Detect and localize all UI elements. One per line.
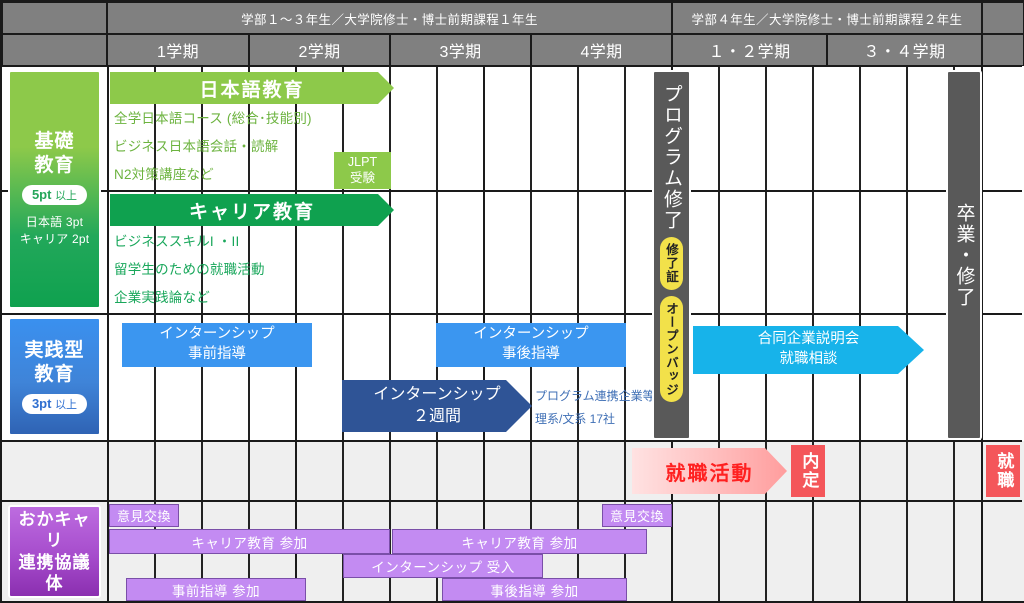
job-offer-box[interactable]: 内定 xyxy=(791,445,825,497)
header-group-1: 学部１～３年生／大学院修士・博士前期課程１年生 xyxy=(107,2,672,34)
section-divider-practical-job xyxy=(2,440,1022,442)
category-consortium-title: おかキャリ 連携協議体 xyxy=(10,509,99,594)
post-guidance-join-bar[interactable]: 事後指導 参加 xyxy=(442,578,627,601)
graduation-column[interactable]: 卒業・修了 xyxy=(946,70,982,440)
joint-company-session-bar[interactable]: 合同企業説明会 就職相談 xyxy=(693,326,924,374)
japanese-education-title-bar[interactable]: 日本語教育 xyxy=(110,72,394,104)
header-semester-5: １・２学期 xyxy=(672,34,827,66)
opinion-exchange-right-bar[interactable]: 意見交換 xyxy=(602,504,672,527)
category-foundation-points: 5pt 以上 xyxy=(22,185,87,205)
career-education-join-bar-2[interactable]: キャリア教育 参加 xyxy=(392,529,647,554)
certificate-badge: 修了証 xyxy=(660,237,683,290)
category-foundation-breakdown: 日本語 3pt キャリア 2pt xyxy=(20,214,90,249)
category-practical-title: 実践型 教育 xyxy=(24,339,84,387)
header-semester-2: 2学期 xyxy=(249,34,390,66)
category-foundation[interactable]: 基礎 教育 5pt 以上 日本語 3pt キャリア 2pt xyxy=(8,70,101,309)
header-semester-6: ３・４学期 xyxy=(827,34,982,66)
category-consortium[interactable]: おかキャリ 連携協議体 xyxy=(8,505,101,598)
section-divider-job-consortium xyxy=(2,500,1022,502)
header-semester-tail xyxy=(982,34,1024,66)
opinion-exchange-left-bar[interactable]: 意見交換 xyxy=(109,504,179,527)
internship-partner-note: プログラム連携企業等 理系/文系 17社 xyxy=(535,385,655,431)
internship-acceptance-bar[interactable]: インターンシップ 受入 xyxy=(343,554,543,578)
roadmap-chart: 学部１～３年生／大学院修士・博士前期課程１年生 学部４年生／大学院修士・博士前期… xyxy=(0,0,1024,603)
career-education-item-1: 留学生のための就職活動 xyxy=(114,258,265,278)
internship-post-guidance-bar[interactable]: インターンシップ 事後指導 xyxy=(436,323,626,367)
japanese-education-item-2: N2対策講座など xyxy=(114,163,214,183)
header-group-2: 学部４年生／大学院修士・博士前期課程２年生 xyxy=(672,2,982,34)
gridline xyxy=(389,66,391,601)
program-completion-column[interactable]: プログラム修了 修了証 オープンバッジ xyxy=(652,70,691,440)
jlpt-exam-badge[interactable]: JLPT 受験 xyxy=(334,152,391,189)
section-divider-japanese-career xyxy=(2,190,1022,192)
pre-guidance-join-bar[interactable]: 事前指導 参加 xyxy=(126,578,306,601)
open-badge: オープンバッジ xyxy=(660,296,683,403)
category-foundation-title: 基礎 教育 xyxy=(34,130,74,178)
internship-pre-guidance-bar[interactable]: インターンシップ 事前指導 xyxy=(122,323,312,367)
section-divider-header xyxy=(2,65,1022,67)
japanese-education-item-0: 全学日本語コース (総合･技能別) xyxy=(114,107,312,127)
program-completion-label: プログラム修了 xyxy=(658,84,685,231)
internship-2weeks-bar[interactable]: インターンシップ ２週間 xyxy=(342,380,532,432)
section-divider-foundation-practical xyxy=(2,313,1022,315)
header-semester-4: 4学期 xyxy=(531,34,672,66)
career-education-item-2: 企業実践論など xyxy=(114,286,210,306)
employment-box[interactable]: 就職 xyxy=(986,445,1020,497)
header-corner-blank xyxy=(2,2,107,34)
graduation-label: 卒業・修了 xyxy=(951,203,978,308)
header-semester-blank xyxy=(2,34,107,66)
header-group-tail xyxy=(982,2,1024,34)
gridline xyxy=(342,66,344,601)
header-semester-3: 3学期 xyxy=(390,34,531,66)
header-semester-1: 1学期 xyxy=(107,34,249,66)
career-education-item-0: ビジネススキルI ・II xyxy=(114,230,239,250)
job-hunting-arrow[interactable]: 就職活動 xyxy=(632,448,787,494)
career-education-title-bar[interactable]: キャリア教育 xyxy=(110,194,394,226)
gridline xyxy=(906,66,908,601)
japanese-education-item-1: ビジネス日本語会話・読解 xyxy=(114,135,278,155)
category-practical[interactable]: 実践型 教育 3pt 以上 xyxy=(8,317,101,436)
career-education-join-bar-1[interactable]: キャリア教育 参加 xyxy=(109,529,390,554)
category-practical-points: 3pt 以上 xyxy=(22,394,87,414)
